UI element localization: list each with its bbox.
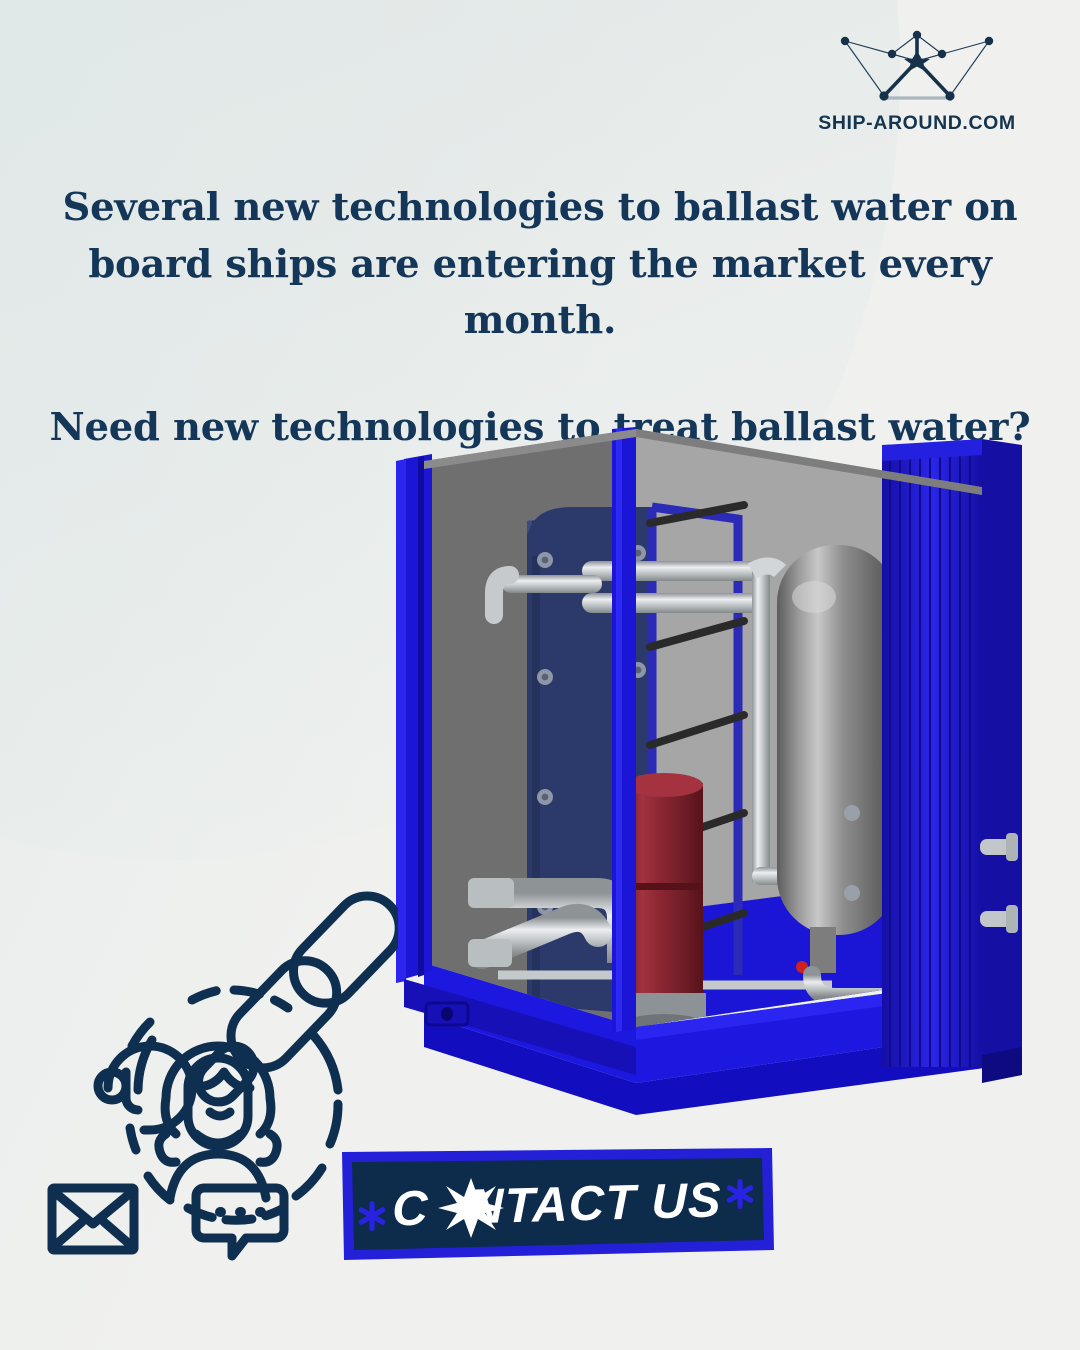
ballast-water-treatment-container-render (382, 415, 1080, 1155)
contact-us-button[interactable]: CONTACT US (336, 1146, 778, 1266)
container-door-jamb (612, 427, 636, 1033)
brand-logo[interactable]: SHIP-AROUND.COM (792, 28, 1042, 135)
hero-image (382, 415, 1080, 1155)
envelope-icon (52, 1188, 134, 1250)
brand-wordmark: SHIP-AROUND.COM (792, 112, 1042, 135)
container-right-wall (882, 439, 1022, 1083)
contact-us-cta[interactable]: CONTACT US (336, 1146, 778, 1266)
ship-network-logo-icon (822, 28, 1012, 106)
pressure-vessel (777, 545, 897, 973)
cta-shape (336, 1146, 778, 1266)
container-left-post (396, 454, 432, 983)
headline-paragraph-1: Several new technologies to ballast wate… (63, 185, 1018, 343)
